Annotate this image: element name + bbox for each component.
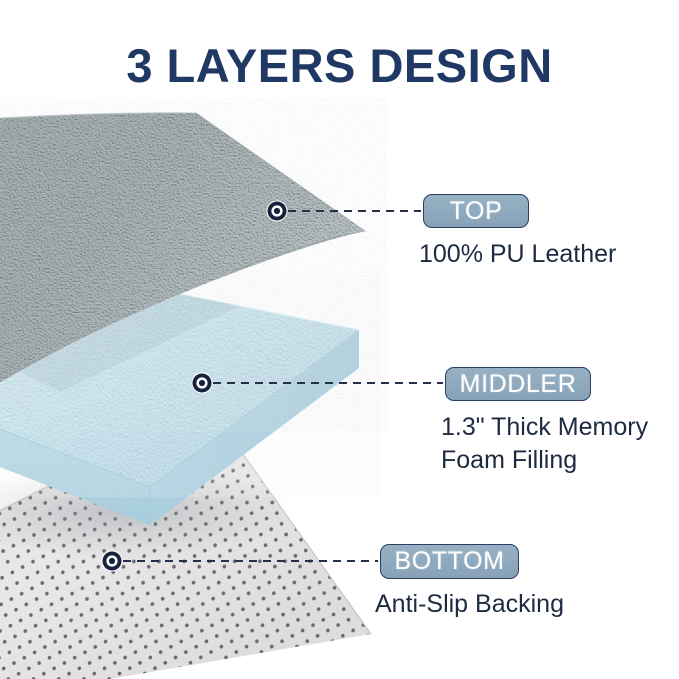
description-bottom: Anti-Slip Backing [375,588,564,621]
badge-bottom: BOTTOM [380,544,519,579]
badge-top: TOP [423,194,529,228]
badge-middler: MIDDLER [445,367,591,401]
marker-dot-bottom [102,551,123,572]
description-top: 100% PU Leather [419,238,616,271]
exploded-layers-illustration [0,0,679,679]
marker-dot-top [267,201,288,222]
marker-dot-middler [192,373,213,394]
description-middler: 1.3" Thick Memory Foam Filling [441,411,648,477]
product-layers-infographic: 3 LAYERS DESIGN [0,0,679,679]
